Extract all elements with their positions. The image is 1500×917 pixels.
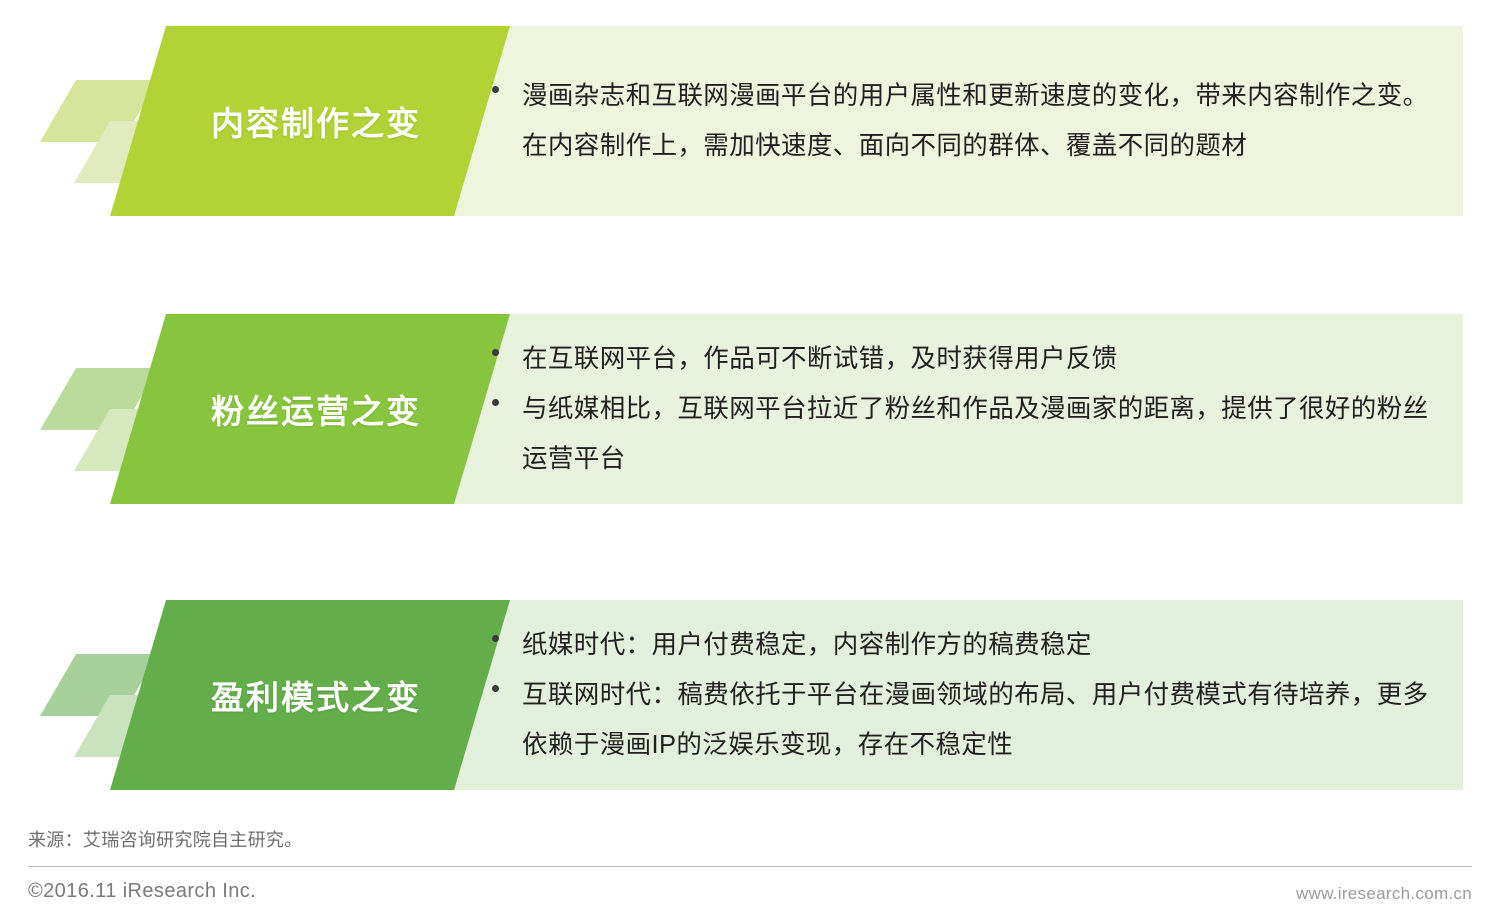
bullet-text: 漫画杂志和互联网漫画平台的用户属性和更新速度的变化，带来内容制作之变。在内容制作…	[522, 71, 1454, 171]
section-bullet-list: 纸媒时代：用户付费稳定，内容制作方的稿费稳定 互联网时代：稿费依托于平台在漫画领…	[492, 600, 1454, 790]
section-title: 内容制作之变	[211, 97, 421, 145]
slide-canvas: 内容制作之变 漫画杂志和互联网漫画平台的用户属性和更新速度的变化，带来内容制作之…	[0, 0, 1500, 917]
section-content-production: 内容制作之变 漫画杂志和互联网漫画平台的用户属性和更新速度的变化，带来内容制作之…	[0, 26, 1500, 216]
section-title-shape: 粉丝运营之变	[110, 314, 510, 504]
section-fan-operation: 粉丝运营之变 在互联网平台，作品可不断试错，及时获得用户反馈 与纸媒相比，互联网…	[0, 314, 1500, 504]
section-profit-model: 盈利模式之变 纸媒时代：用户付费稳定，内容制作方的稿费稳定 互联网时代：稿费依托…	[0, 600, 1500, 790]
bullet-item: 漫画杂志和互联网漫画平台的用户属性和更新速度的变化，带来内容制作之变。在内容制作…	[492, 71, 1454, 171]
bullet-dot-icon	[492, 384, 522, 406]
bullet-item: 与纸媒相比，互联网平台拉近了粉丝和作品及漫画家的距离，提供了很好的粉丝运营平台	[492, 384, 1454, 484]
section-bullet-list: 漫画杂志和互联网漫画平台的用户属性和更新速度的变化，带来内容制作之变。在内容制作…	[492, 26, 1454, 216]
section-bullet-list: 在互联网平台，作品可不断试错，及时获得用户反馈 与纸媒相比，互联网平台拉近了粉丝…	[492, 314, 1454, 504]
footer-divider	[28, 866, 1472, 867]
bullet-text: 纸媒时代：用户付费稳定，内容制作方的稿费稳定	[522, 620, 1454, 670]
copyright-text: ©2016.11 iResearch Inc.	[28, 880, 256, 903]
section-title-shape: 内容制作之变	[110, 26, 510, 216]
bullet-text: 互联网时代：稿费依托于平台在漫画领域的布局、用户付费模式有待培养，更多依赖于漫画…	[522, 670, 1454, 770]
bullet-item: 互联网时代：稿费依托于平台在漫画领域的布局、用户付费模式有待培养，更多依赖于漫画…	[492, 670, 1454, 770]
bullet-text: 在互联网平台，作品可不断试错，及时获得用户反馈	[522, 334, 1454, 384]
website-url: www.iresearch.com.cn	[1296, 884, 1472, 904]
bullet-item: 纸媒时代：用户付费稳定，内容制作方的稿费稳定	[492, 620, 1454, 670]
bullet-dot-icon	[492, 334, 522, 356]
bullet-dot-icon	[492, 620, 522, 642]
section-title-shape: 盈利模式之变	[110, 600, 510, 790]
bullet-item: 在互联网平台，作品可不断试错，及时获得用户反馈	[492, 334, 1454, 384]
section-title: 粉丝运营之变	[211, 385, 421, 433]
bullet-text: 与纸媒相比，互联网平台拉近了粉丝和作品及漫画家的距离，提供了很好的粉丝运营平台	[522, 384, 1454, 484]
section-title: 盈利模式之变	[211, 671, 421, 719]
source-note: 来源：艾瑞咨询研究院自主研究。	[28, 826, 303, 852]
bullet-dot-icon	[492, 670, 522, 692]
bullet-dot-icon	[492, 71, 522, 93]
